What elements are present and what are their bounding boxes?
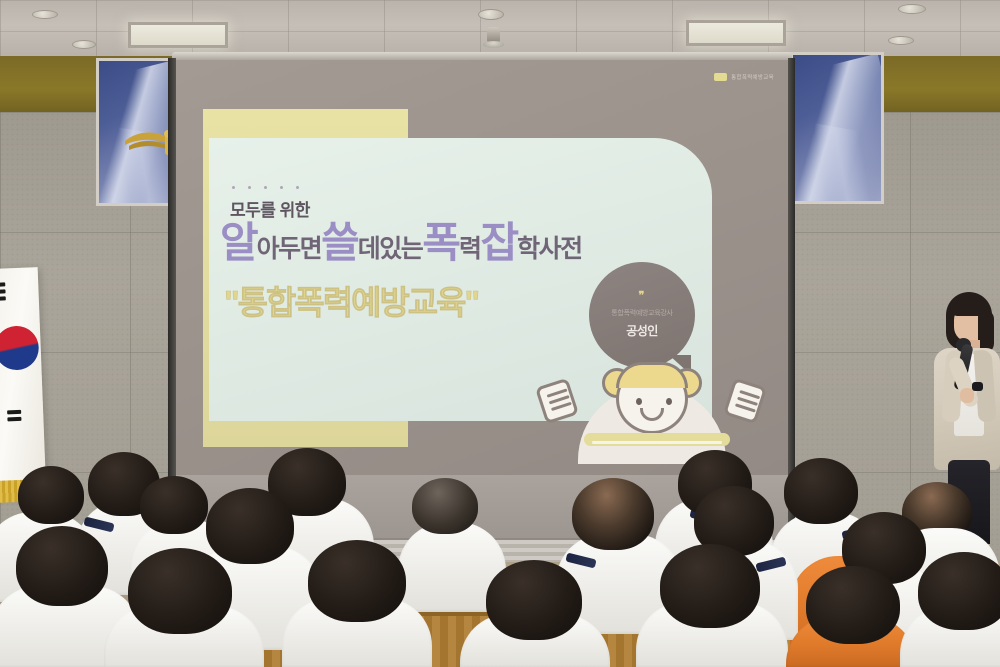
dot-icon xyxy=(248,186,251,189)
speaker-name-text: 공성인 xyxy=(626,322,658,339)
ceiling-speaker-icon xyxy=(898,4,926,14)
audience-head xyxy=(140,476,208,534)
audience-head xyxy=(206,488,294,564)
presenter-watch xyxy=(972,382,983,391)
screen-frame-left xyxy=(168,58,176,538)
mascot-hand-right xyxy=(723,378,767,425)
ceiling-speaker-icon xyxy=(32,10,58,19)
slide-accent-bar-inner xyxy=(592,441,722,444)
audience-head xyxy=(572,478,654,550)
speaker-role-text: 통합폭력예방교육강사 xyxy=(611,308,672,318)
trigram-bar xyxy=(7,417,21,422)
slide-headline: 알아두면쓸데있는폭력잡학사전 xyxy=(220,222,582,264)
headline-part: 데있는 xyxy=(358,235,423,263)
dot-icon xyxy=(280,186,283,189)
slide-accent-bar xyxy=(584,433,730,446)
trigram-bar xyxy=(7,410,21,415)
slide-logo-mark-icon xyxy=(714,73,727,81)
mascot-pointer xyxy=(644,449,662,458)
ceiling-speaker-icon xyxy=(478,9,504,20)
headline-part: 쓸 xyxy=(321,219,358,266)
blue-banner-right xyxy=(790,52,884,204)
trigram-bar xyxy=(0,289,6,294)
audience-head xyxy=(784,458,858,524)
trigram-bar xyxy=(0,282,5,287)
mascot-eye-left xyxy=(636,398,642,405)
presenter-hand xyxy=(960,388,974,403)
finger xyxy=(735,403,756,412)
slide-eyebrow-text: 모두를 위한 xyxy=(230,196,310,221)
dot-icon xyxy=(296,186,299,189)
audience-head xyxy=(660,544,760,628)
audience-head xyxy=(308,540,406,622)
banner-swoosh xyxy=(790,120,884,204)
slide-decorative-dots xyxy=(232,186,299,189)
headline-part: 력 xyxy=(459,235,481,263)
mascot-eye-right xyxy=(666,398,672,405)
headline-part: 학사전 xyxy=(517,235,582,263)
headline-part: 알 xyxy=(220,219,257,266)
headline-part: 아두면 xyxy=(257,235,322,263)
audience-head xyxy=(128,548,232,634)
dot-icon xyxy=(264,186,267,189)
slide-logo: 통합폭력예방교육 xyxy=(714,73,774,81)
headline-part: 폭 xyxy=(422,219,459,266)
mascot-hand-left xyxy=(535,378,579,425)
auditorium-scene: 통합폭력예방교육 모두를 위한 알아두면쓸데있는폭력잡학사전 "통합폭력예방교육… xyxy=(0,0,1000,667)
quote-mark-icon: ❞ xyxy=(639,291,646,302)
ceiling-light-right xyxy=(686,20,786,46)
slide-subline-text: "통합폭력예방교육" xyxy=(224,276,478,324)
ceiling-speaker-icon xyxy=(72,40,96,49)
presentation-slide: 통합폭력예방교육 모두를 위한 알아두면쓸데있는폭력잡학사전 "통합폭력예방교육… xyxy=(176,60,788,475)
audience-head xyxy=(486,560,582,640)
audience-head xyxy=(16,526,108,606)
finger xyxy=(551,402,572,411)
audience-head xyxy=(412,478,478,534)
audience-head xyxy=(918,552,1000,630)
sprinkler-icon xyxy=(487,27,500,43)
dot-icon xyxy=(232,186,235,189)
audience-head xyxy=(18,466,84,524)
mascot-hair xyxy=(616,362,688,388)
trigram-bar xyxy=(0,296,6,301)
audience-head xyxy=(806,566,900,644)
slide-logo-text: 통합폭력예방교육 xyxy=(731,73,774,81)
headline-part: 잡 xyxy=(480,219,517,266)
ceiling-speaker-icon xyxy=(888,36,914,45)
taeguk-symbol-icon xyxy=(0,325,40,371)
ceiling-light-left xyxy=(128,22,228,48)
screen-frame-right xyxy=(788,58,795,528)
